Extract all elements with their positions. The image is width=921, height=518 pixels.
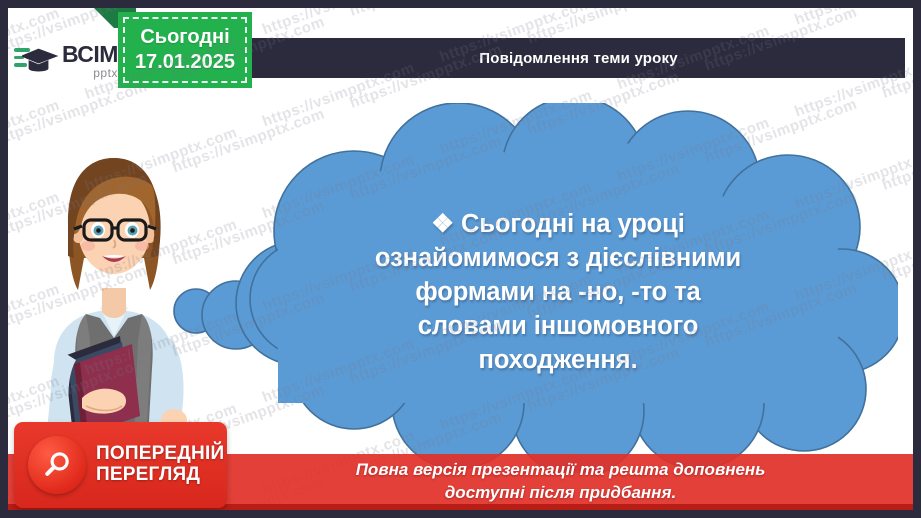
preview-label-line-2: ПЕРЕГЛЯД	[96, 465, 224, 486]
cloud-line-5: походження.	[338, 344, 778, 378]
slide-outer-frame: ❖ Сьогодні на уроці ознайомимося з дієсл…	[0, 0, 921, 518]
cloud-line-3: формами на -но, -то та	[338, 276, 778, 310]
preview-label-line-1: ПОПЕРЕДНІЙ	[96, 444, 224, 465]
date-badge-date: 17.01.2025	[135, 50, 235, 75]
cloud-line-1: ❖ Сьогодні на уроці	[338, 208, 778, 242]
banner-line-1: Повна версія презентації та решта доповн…	[356, 459, 766, 482]
slide-canvas: ❖ Сьогодні на уроці ознайомимося з дієсл…	[8, 8, 913, 510]
logo-subtitle: pptx	[62, 67, 118, 79]
banner-line-2: доступні після придбання.	[445, 482, 676, 505]
teacher-illustration	[24, 130, 204, 440]
cloud-line-4: словами іншомовного	[338, 310, 778, 344]
cloud-message-text: ❖ Сьогодні на уроці ознайомимося з дієсл…	[338, 208, 778, 378]
magnifier-icon	[28, 436, 86, 494]
cloud-line-2: ознайомимося з дієслівними	[338, 242, 778, 276]
date-badge-label: Сьогодні	[140, 25, 229, 50]
preview-badge[interactable]: ПОПЕРЕДНІЙ ПЕРЕГЛЯД	[14, 422, 227, 508]
brand-logo: ВСІМ pptx	[8, 28, 126, 94]
header-bar: Повідомлення теми уроку	[252, 38, 905, 78]
graduation-cap-icon	[14, 42, 60, 80]
date-badge: Сьогодні 17.01.2025	[118, 12, 252, 88]
logo-name: ВСІМ	[62, 43, 118, 66]
page-title: Повідомлення теми уроку	[479, 50, 678, 67]
